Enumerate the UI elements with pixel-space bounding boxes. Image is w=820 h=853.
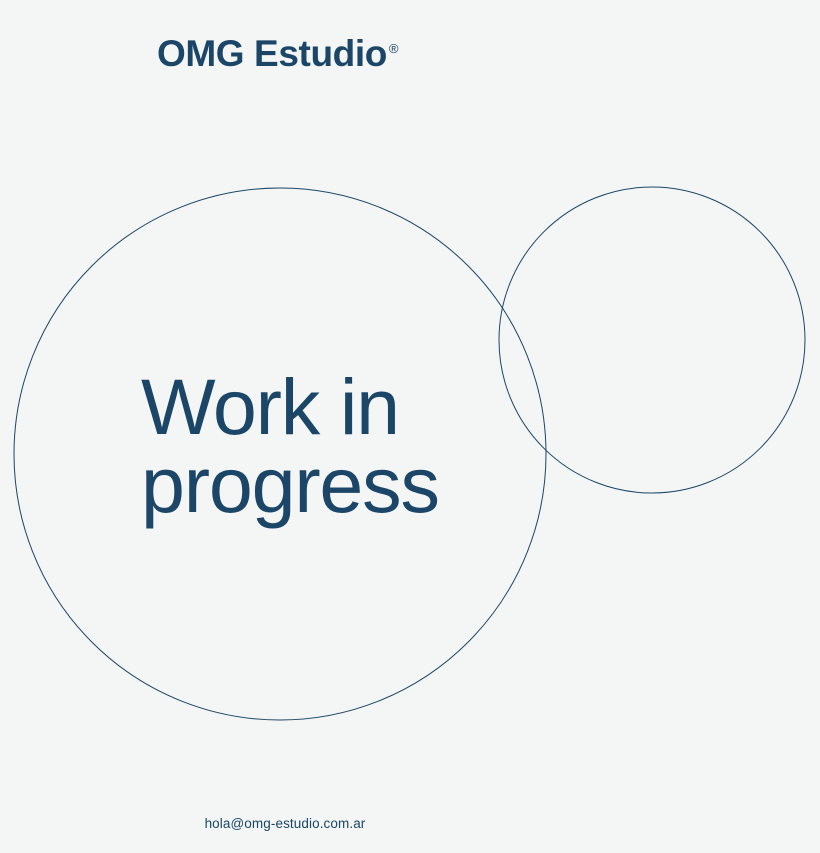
brand-name: OMG Estudio (157, 35, 387, 72)
page-title: Work in progress (141, 368, 561, 524)
contact-email-link[interactable]: hola@omg-estudio.com.ar (0, 816, 570, 831)
registered-trademark-icon: ® (389, 42, 399, 55)
page-root: OMG Estudio ® Work in progress hola@omg-… (0, 0, 820, 853)
brand-logo: OMG Estudio ® (157, 35, 399, 72)
